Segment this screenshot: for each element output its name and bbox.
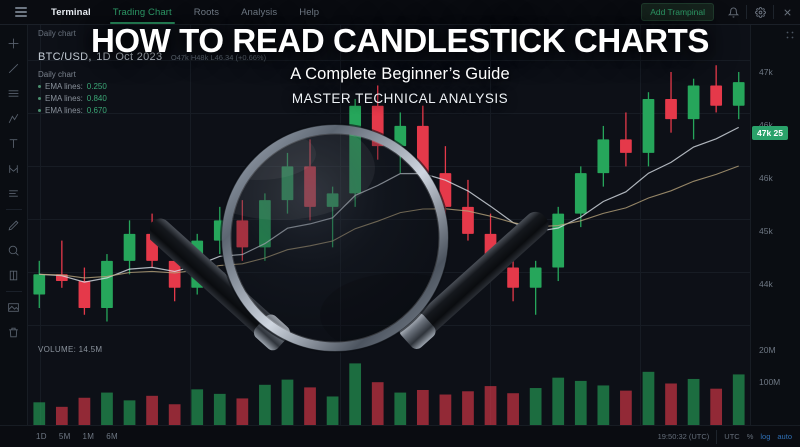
- gear-icon[interactable]: [747, 0, 773, 25]
- pitchfork-icon[interactable]: [0, 106, 28, 131]
- price-tick-2: 46k: [759, 173, 773, 183]
- horizontal-lines-icon[interactable]: [0, 81, 28, 106]
- volume-tick-1: 100M: [759, 377, 780, 387]
- left-drawing-toolbar: [0, 25, 28, 447]
- hamburger-icon[interactable]: [8, 7, 34, 17]
- chart-subtitle: Daily chart: [38, 70, 266, 79]
- indicator-label-3: EMA lines:: [45, 106, 83, 115]
- chart-info-panel: Daily chart BTC/USD, 1D Oct 2023 O47k H4…: [38, 29, 266, 115]
- chart-toolbar-label: Daily chart: [38, 29, 266, 38]
- indicator-dot-icon-3: [38, 109, 41, 112]
- text-tool-icon[interactable]: [0, 131, 28, 156]
- timeframe-5m[interactable]: 5M: [53, 432, 77, 441]
- chart-canvas[interactable]: Daily chart BTC/USD, 1D Oct 2023 O47k H4…: [28, 25, 750, 425]
- nav-item-roots[interactable]: Roots: [183, 0, 230, 25]
- nav-item-help[interactable]: Help: [288, 0, 330, 25]
- add-terminal-button[interactable]: Add Trampinal: [641, 3, 714, 21]
- crosshair-icon[interactable]: [0, 31, 28, 56]
- timeframe-6m[interactable]: 6M: [100, 432, 124, 441]
- nav-right-group: Add Trampinal: [641, 0, 800, 25]
- auto-toggle[interactable]: auto: [777, 432, 792, 441]
- magnify-icon[interactable]: [0, 238, 28, 263]
- pencil-icon[interactable]: [0, 213, 28, 238]
- indicator-value-2: 0.840: [87, 94, 107, 103]
- price-tick-3: 45k: [759, 226, 773, 236]
- interval-label: 1D: [96, 51, 111, 63]
- indicator-label-2: EMA lines:: [45, 94, 83, 103]
- ruler-icon[interactable]: [0, 263, 28, 288]
- log-toggle[interactable]: log: [760, 432, 770, 441]
- close-icon[interactable]: [774, 0, 800, 25]
- volume-label: VOLUME: 14.5M: [38, 345, 102, 354]
- status-right-group: 19:50:32 (UTC) UTC % log auto: [658, 430, 800, 444]
- nav-item-analysis[interactable]: Analysis: [230, 0, 288, 25]
- indicator-dot-icon: [38, 85, 41, 88]
- timeframe-1d[interactable]: 1D: [30, 432, 53, 441]
- nav-item-terminal[interactable]: Terminal: [40, 0, 102, 25]
- indicator-value-3: 0.670: [87, 106, 107, 115]
- nav-items: Terminal Trading Chart Roots Analysis He…: [40, 0, 330, 25]
- trash-icon[interactable]: [0, 320, 28, 345]
- timeframe-1m[interactable]: 1M: [77, 432, 101, 441]
- trading-chart-app: Terminal Trading Chart Roots Analysis He…: [0, 0, 800, 447]
- toolbar-divider: [6, 209, 22, 210]
- indicator-row-1[interactable]: EMA lines: 0.250: [38, 82, 266, 91]
- top-navigation-bar: Terminal Trading Chart Roots Analysis He…: [0, 0, 800, 25]
- indicator-dot-icon-2: [38, 97, 41, 100]
- current-price-tag: 47k 25: [752, 126, 788, 140]
- price-axis[interactable]: 47k 46k 46k 45k 44k 20M 100M 47k 25: [750, 25, 800, 425]
- price-tick-0: 47k: [759, 67, 773, 77]
- indicator-value-1: 0.250: [87, 82, 107, 91]
- percent-toggle[interactable]: %: [747, 432, 754, 441]
- trend-line-icon[interactable]: [0, 56, 28, 81]
- image-icon[interactable]: [0, 295, 28, 320]
- indicator-row-2[interactable]: EMA lines: 0.840: [38, 94, 266, 103]
- symbol-row: BTC/USD, 1D Oct 2023 O47k H48k L46.34 (+…: [38, 47, 266, 65]
- list-icon[interactable]: [0, 181, 28, 206]
- indicator-row-3[interactable]: EMA lines: 0.670: [38, 106, 266, 115]
- ohlc-values: O47k H48k L46.34 (+0.66%): [171, 53, 266, 62]
- toolbar-divider-2: [6, 291, 22, 292]
- date-label: Oct 2023: [115, 51, 162, 63]
- grid-dots-icon[interactable]: [784, 28, 796, 46]
- bottom-status-bar: 1D 5M 1M 6M 19:50:32 (UTC) UTC % log aut…: [0, 425, 800, 447]
- clock-label: 19:50:32 (UTC): [658, 432, 710, 441]
- timezone-label[interactable]: UTC: [724, 432, 739, 441]
- bell-icon[interactable]: [720, 0, 746, 25]
- price-tick-4: 44k: [759, 279, 773, 289]
- nav-item-trading-chart[interactable]: Trading Chart: [102, 0, 183, 25]
- indicator-label-1: EMA lines:: [45, 82, 83, 91]
- volume-tick-0: 20M: [759, 345, 776, 355]
- measure-icon[interactable]: [0, 156, 28, 181]
- symbol-label: BTC/USD,: [38, 51, 92, 63]
